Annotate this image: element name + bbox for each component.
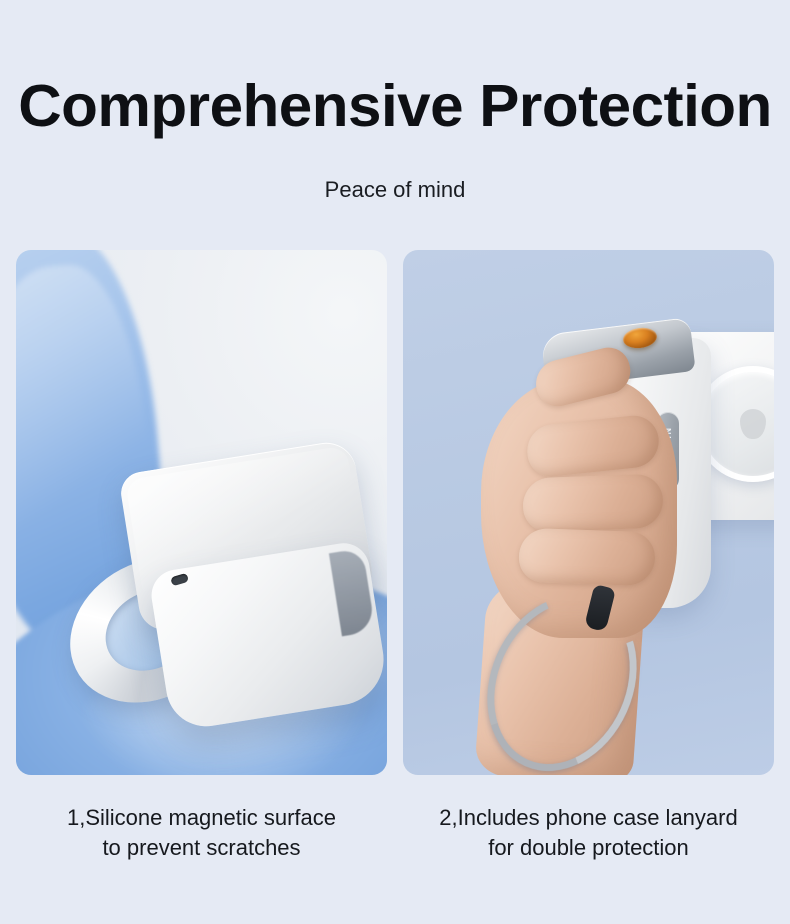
finger-pinky xyxy=(518,528,656,587)
caption-line-2: to prevent scratches xyxy=(102,835,300,860)
promo-page: Comprehensive Protection Peace of mind xyxy=(0,0,790,924)
page-title: Comprehensive Protection xyxy=(0,74,790,138)
feature-card-grid: TELESIN xyxy=(16,250,774,775)
page-subtitle: Peace of mind xyxy=(0,176,790,204)
caption-lanyard: 2,Includes phone case lanyard for double… xyxy=(403,803,774,863)
caption-line-1: 1,Silicone magnetic surface xyxy=(67,805,336,830)
caption-silicone-grip: 1,Silicone magnetic surface to prevent s… xyxy=(16,803,387,863)
caption-line-1: 2,Includes phone case lanyard xyxy=(439,805,737,830)
feature-card-silicone-grip xyxy=(16,250,387,775)
caption-row: 1,Silicone magnetic surface to prevent s… xyxy=(16,803,774,863)
product-grip-illustration xyxy=(94,414,387,718)
grip-body xyxy=(148,540,387,732)
finger-ring xyxy=(522,474,664,533)
caption-line-2: for double protection xyxy=(488,835,689,860)
feature-card-lanyard: TELESIN xyxy=(403,250,774,775)
